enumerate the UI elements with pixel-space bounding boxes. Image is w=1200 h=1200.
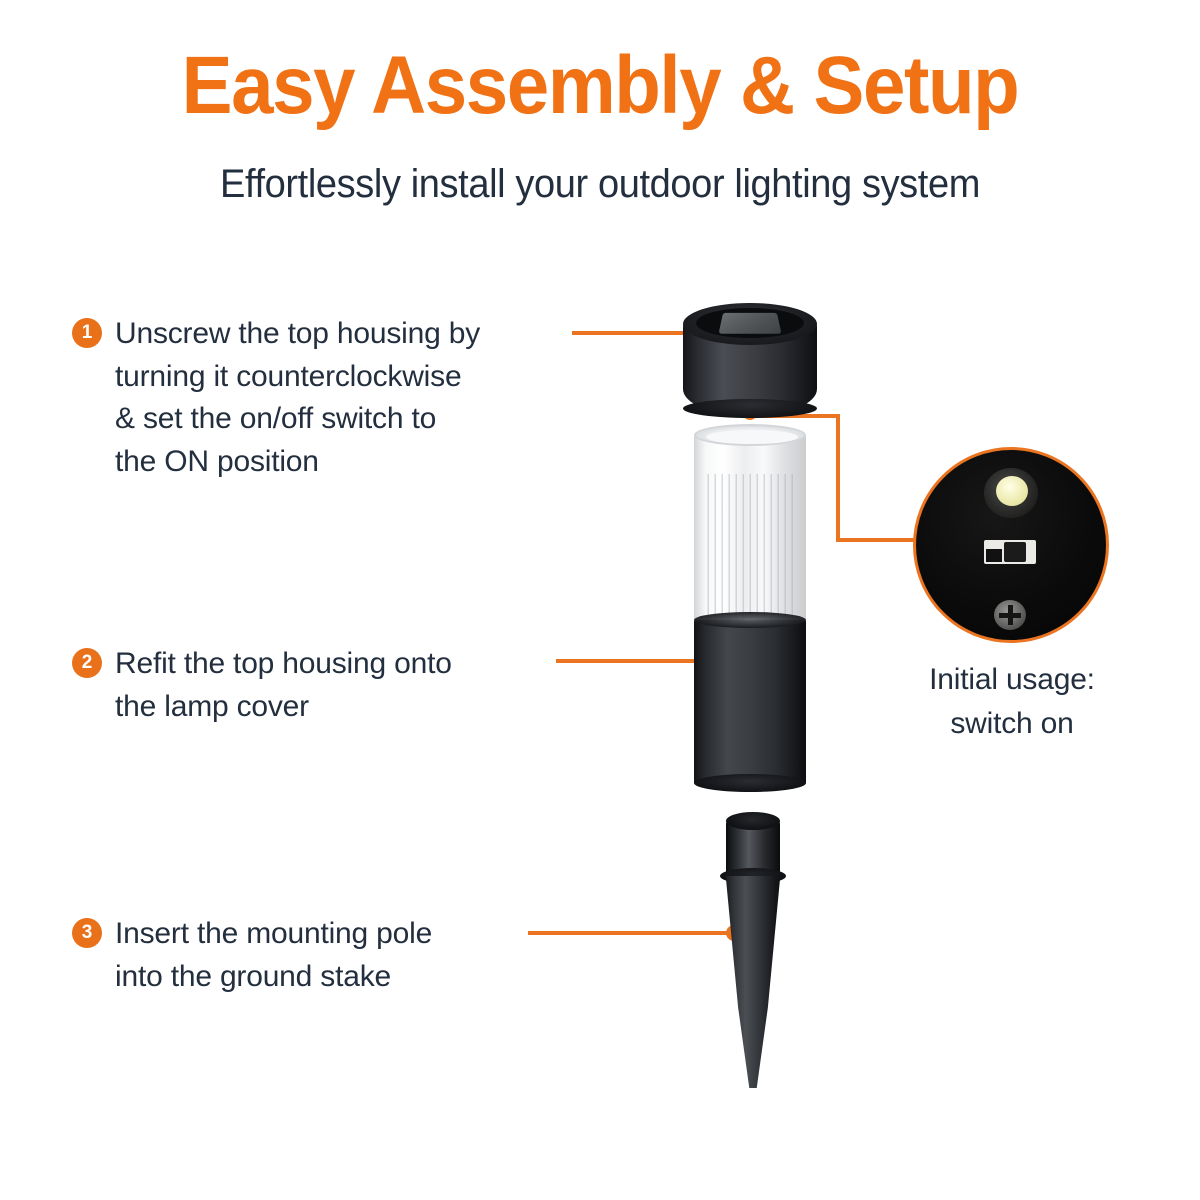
- step-1-leader-line: [572, 331, 696, 335]
- step-3-leader-line: [528, 931, 734, 935]
- switch-detail-circle: [913, 447, 1109, 643]
- ground-stake: [714, 820, 790, 1088]
- step-1-text: Unscrew the top housing by turning it co…: [115, 313, 480, 483]
- dark-lamp-body: [694, 620, 806, 784]
- step-2: 2 Refit the top housing onto the lamp co…: [72, 643, 572, 728]
- step-2-leader-line: [556, 659, 702, 663]
- instruction-graphic: Easy Assembly & Setup Effortlessly insta…: [0, 0, 1200, 1200]
- step-2-text: Refit the top housing onto the lamp cove…: [115, 643, 452, 728]
- lamp-cover-top-rim: [694, 424, 806, 446]
- step-1-badge: 1: [72, 318, 102, 348]
- lamp-body-base: [694, 774, 806, 792]
- cap-bottom-shade: [683, 399, 817, 418]
- solar-panel: [719, 313, 782, 334]
- detail-caption: Initial usage: switch on: [880, 658, 1144, 745]
- page-subtitle: Effortlessly install your outdoor lighti…: [30, 162, 1170, 207]
- detail-leader-segment-vertical: [836, 414, 840, 542]
- step-3-text: Insert the mounting pole into the ground…: [115, 913, 432, 998]
- step-1: 1 Unscrew the top housing by turning it …: [72, 313, 572, 483]
- led-lamp-icon: [996, 476, 1028, 506]
- top-housing-cap: [683, 303, 817, 415]
- switch-notch: [986, 549, 1002, 562]
- lamp-assembly: [694, 424, 806, 792]
- screw-slot-horizontal: [999, 613, 1021, 618]
- switch-slider: [1004, 542, 1026, 562]
- stake-spike: [722, 876, 784, 1088]
- lamp-body-seam: [694, 612, 806, 628]
- lamp-cover-ribs: [702, 474, 798, 624]
- page-title: Easy Assembly & Setup: [42, 44, 1158, 128]
- stake-cap-top-ellipse: [726, 812, 780, 830]
- step-3-badge: 3: [72, 918, 102, 948]
- lamp-cover-inner-rim: [706, 430, 798, 444]
- step-2-badge: 2: [72, 648, 102, 678]
- step-3: 3 Insert the mounting pole into the grou…: [72, 913, 572, 998]
